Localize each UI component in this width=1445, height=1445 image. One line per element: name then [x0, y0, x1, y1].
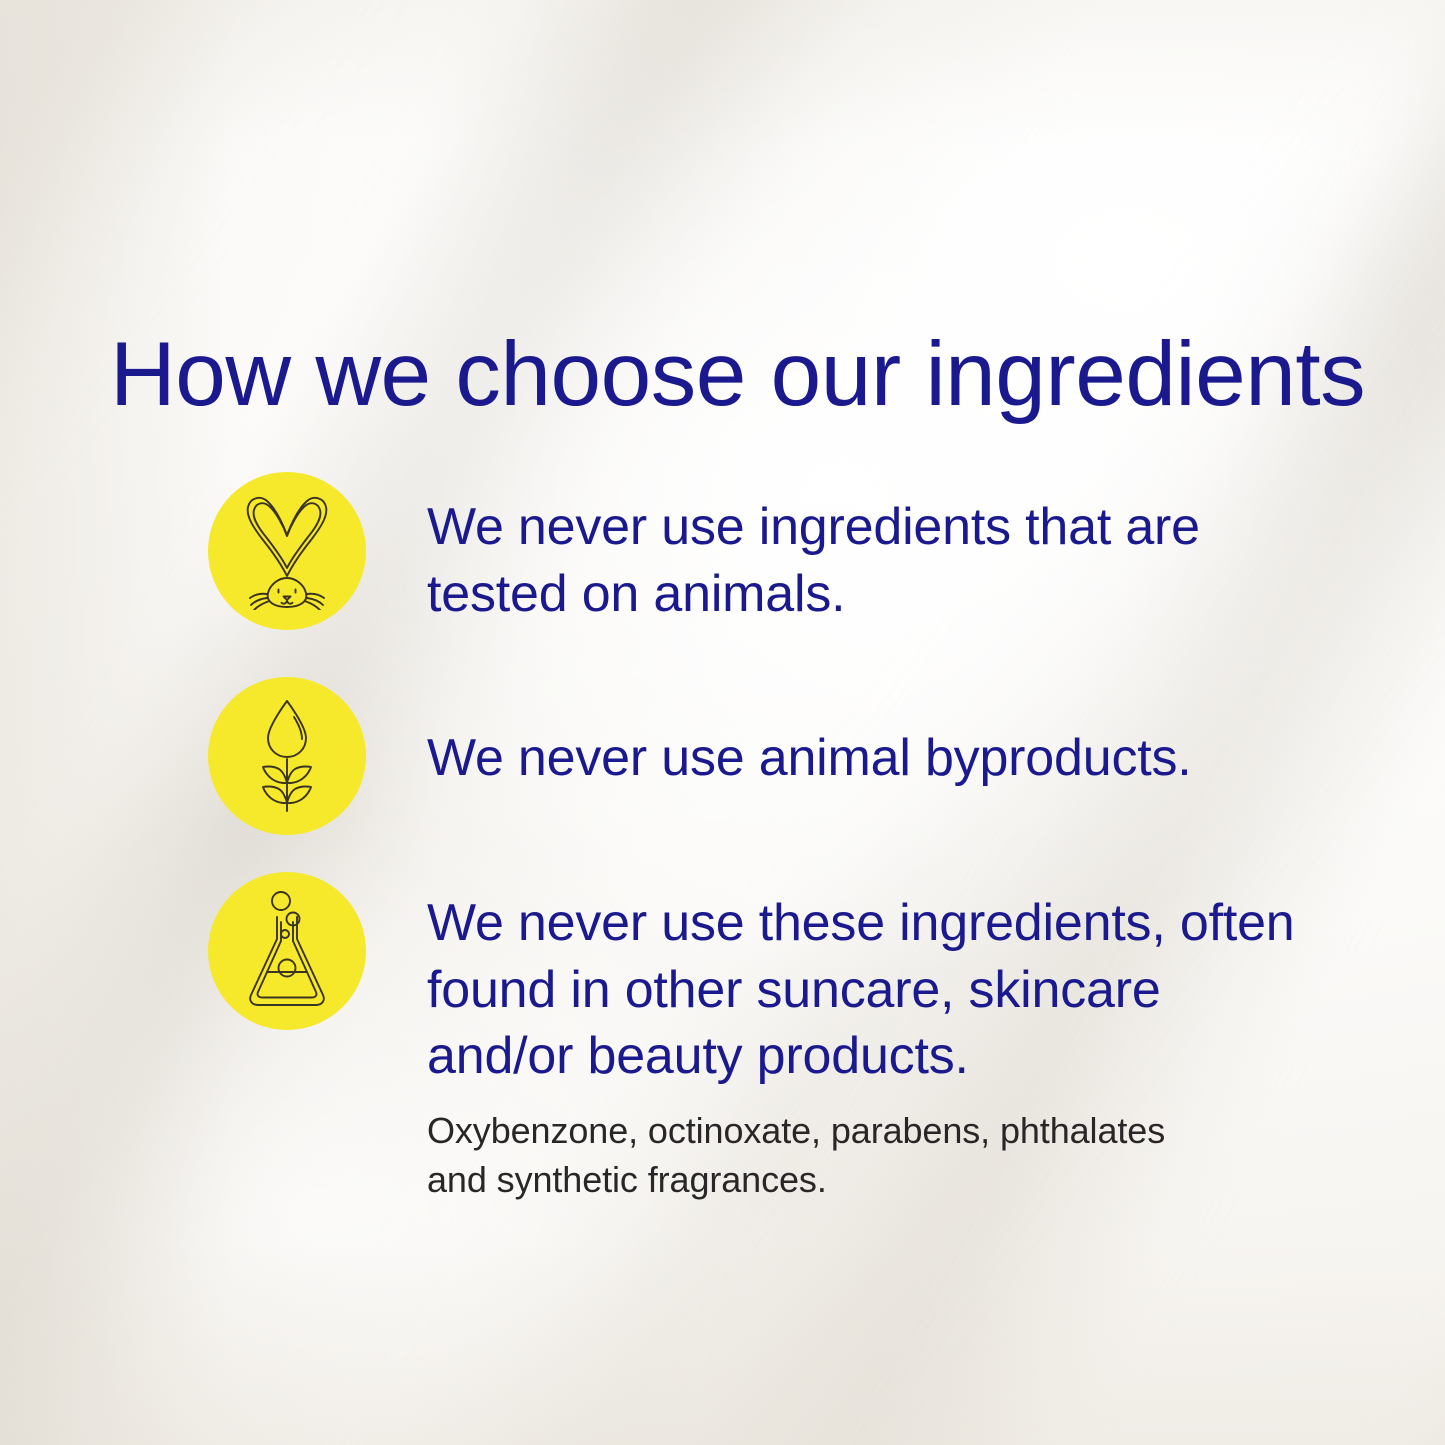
claim-fineprint: Oxybenzone, octinoxate, parabens, phthal… [427, 1106, 1207, 1205]
content-layer: How we choose our ingredients [0, 0, 1445, 1445]
flask-bubbles-icon [241, 891, 333, 1011]
claim-text-block: We never use ingredients that are tested… [366, 472, 1328, 627]
bunny-heart-ears-icon [235, 492, 339, 610]
claim-text-block: We never use these ingredients, often fo… [366, 872, 1328, 1205]
claims-list: We never use ingredients that are tested… [208, 472, 1328, 1205]
claim-badge [208, 472, 366, 630]
claim-statement: We never use animal byproducts. [427, 725, 1292, 792]
claim-text-block: We never use animal byproducts. [366, 677, 1328, 792]
claim-statement: We never use these ingredients, often fo… [427, 890, 1307, 1090]
ingredient-philosophy-graphic: How we choose our ingredients [0, 0, 1445, 1445]
claim-badge [208, 677, 366, 835]
claim-row-no-byproducts: We never use animal byproducts. [208, 677, 1328, 872]
claim-statement: We never use ingredients that are tested… [427, 494, 1292, 627]
droplet-plant-icon [239, 697, 335, 815]
claim-row-cruelty-free: We never use ingredients that are tested… [208, 472, 1328, 677]
claim-badge [208, 872, 366, 1030]
page-title: How we choose our ingredients [110, 329, 1365, 420]
claim-row-excluded-ingredients: We never use these ingredients, often fo… [208, 872, 1328, 1205]
